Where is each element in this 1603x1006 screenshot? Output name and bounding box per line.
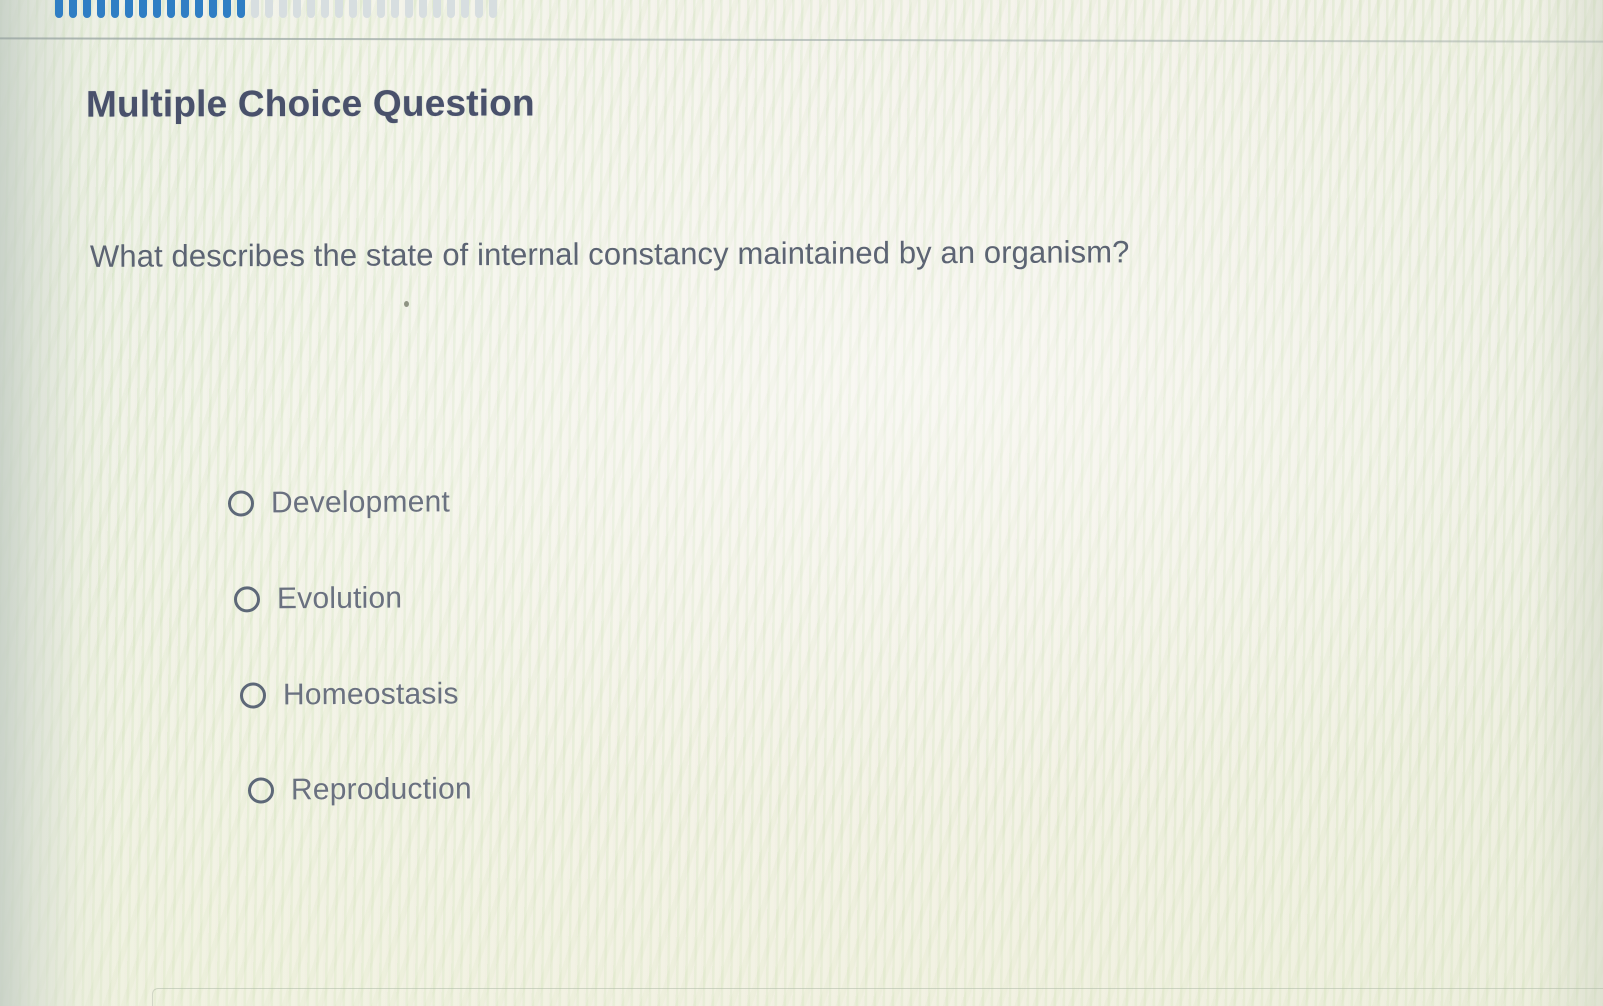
screen-photo: Multiple Choice Question What describes … bbox=[0, 0, 1603, 1006]
answer-option-evolution[interactable]: Evolution bbox=[234, 582, 402, 617]
answer-option-label: Evolution bbox=[277, 582, 402, 617]
question-content: Multiple Choice Question What describes … bbox=[0, 0, 1603, 1006]
page-title: Multiple Choice Question bbox=[86, 82, 535, 125]
radio-button-icon[interactable] bbox=[240, 682, 266, 708]
answer-option-label: Homeostasis bbox=[283, 677, 459, 712]
answer-option-label: Reproduction bbox=[291, 772, 472, 807]
radio-button-icon[interactable] bbox=[228, 490, 254, 516]
answer-option-development[interactable]: Development bbox=[228, 485, 450, 520]
radio-button-icon[interactable] bbox=[248, 777, 274, 803]
answer-option-label: Development bbox=[271, 485, 450, 520]
answer-option-reproduction[interactable]: Reproduction bbox=[248, 772, 472, 807]
radio-button-icon[interactable] bbox=[234, 586, 260, 612]
dust-speck-artifact bbox=[404, 301, 409, 307]
answer-option-homeostasis[interactable]: Homeostasis bbox=[240, 677, 459, 712]
question-prompt: What describes the state of internal con… bbox=[90, 233, 1390, 275]
